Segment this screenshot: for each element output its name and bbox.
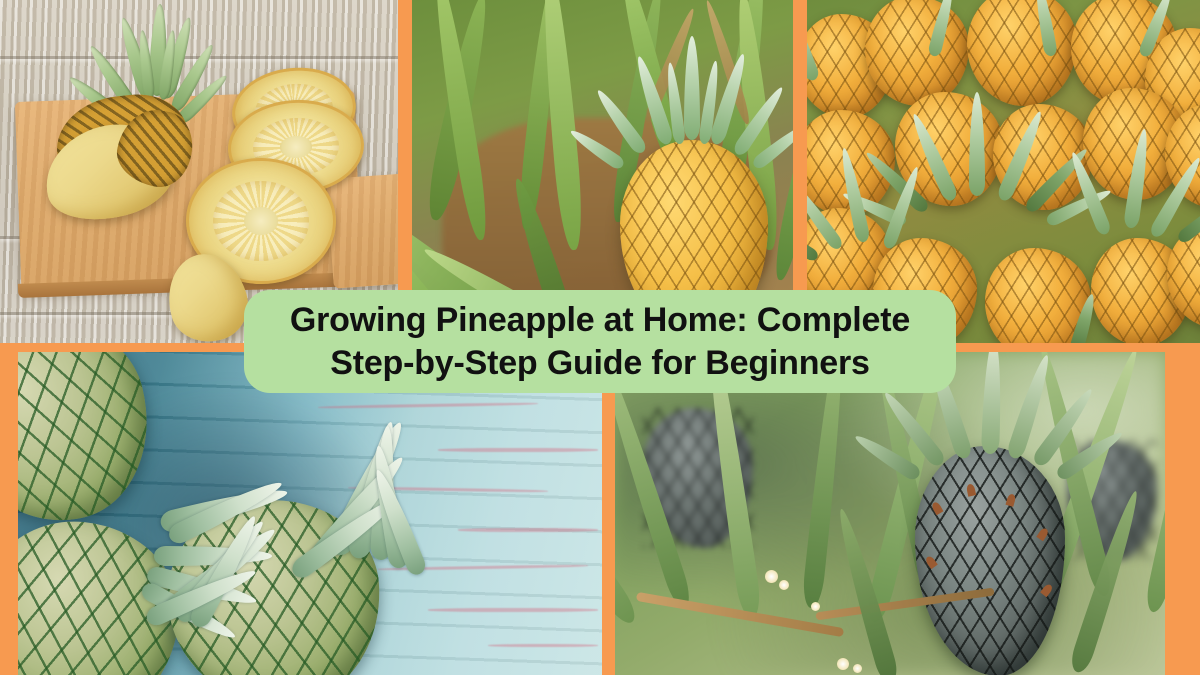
pineapple-photo-collage: Growing Pineapple at Home: Complete Step… xyxy=(0,0,1200,675)
title-banner: Growing Pineapple at Home: Complete Step… xyxy=(244,290,956,393)
photo-bottom-right xyxy=(615,352,1165,675)
page-title: Growing Pineapple at Home: Complete Step… xyxy=(258,299,942,383)
photo-bottom-left xyxy=(18,352,602,675)
